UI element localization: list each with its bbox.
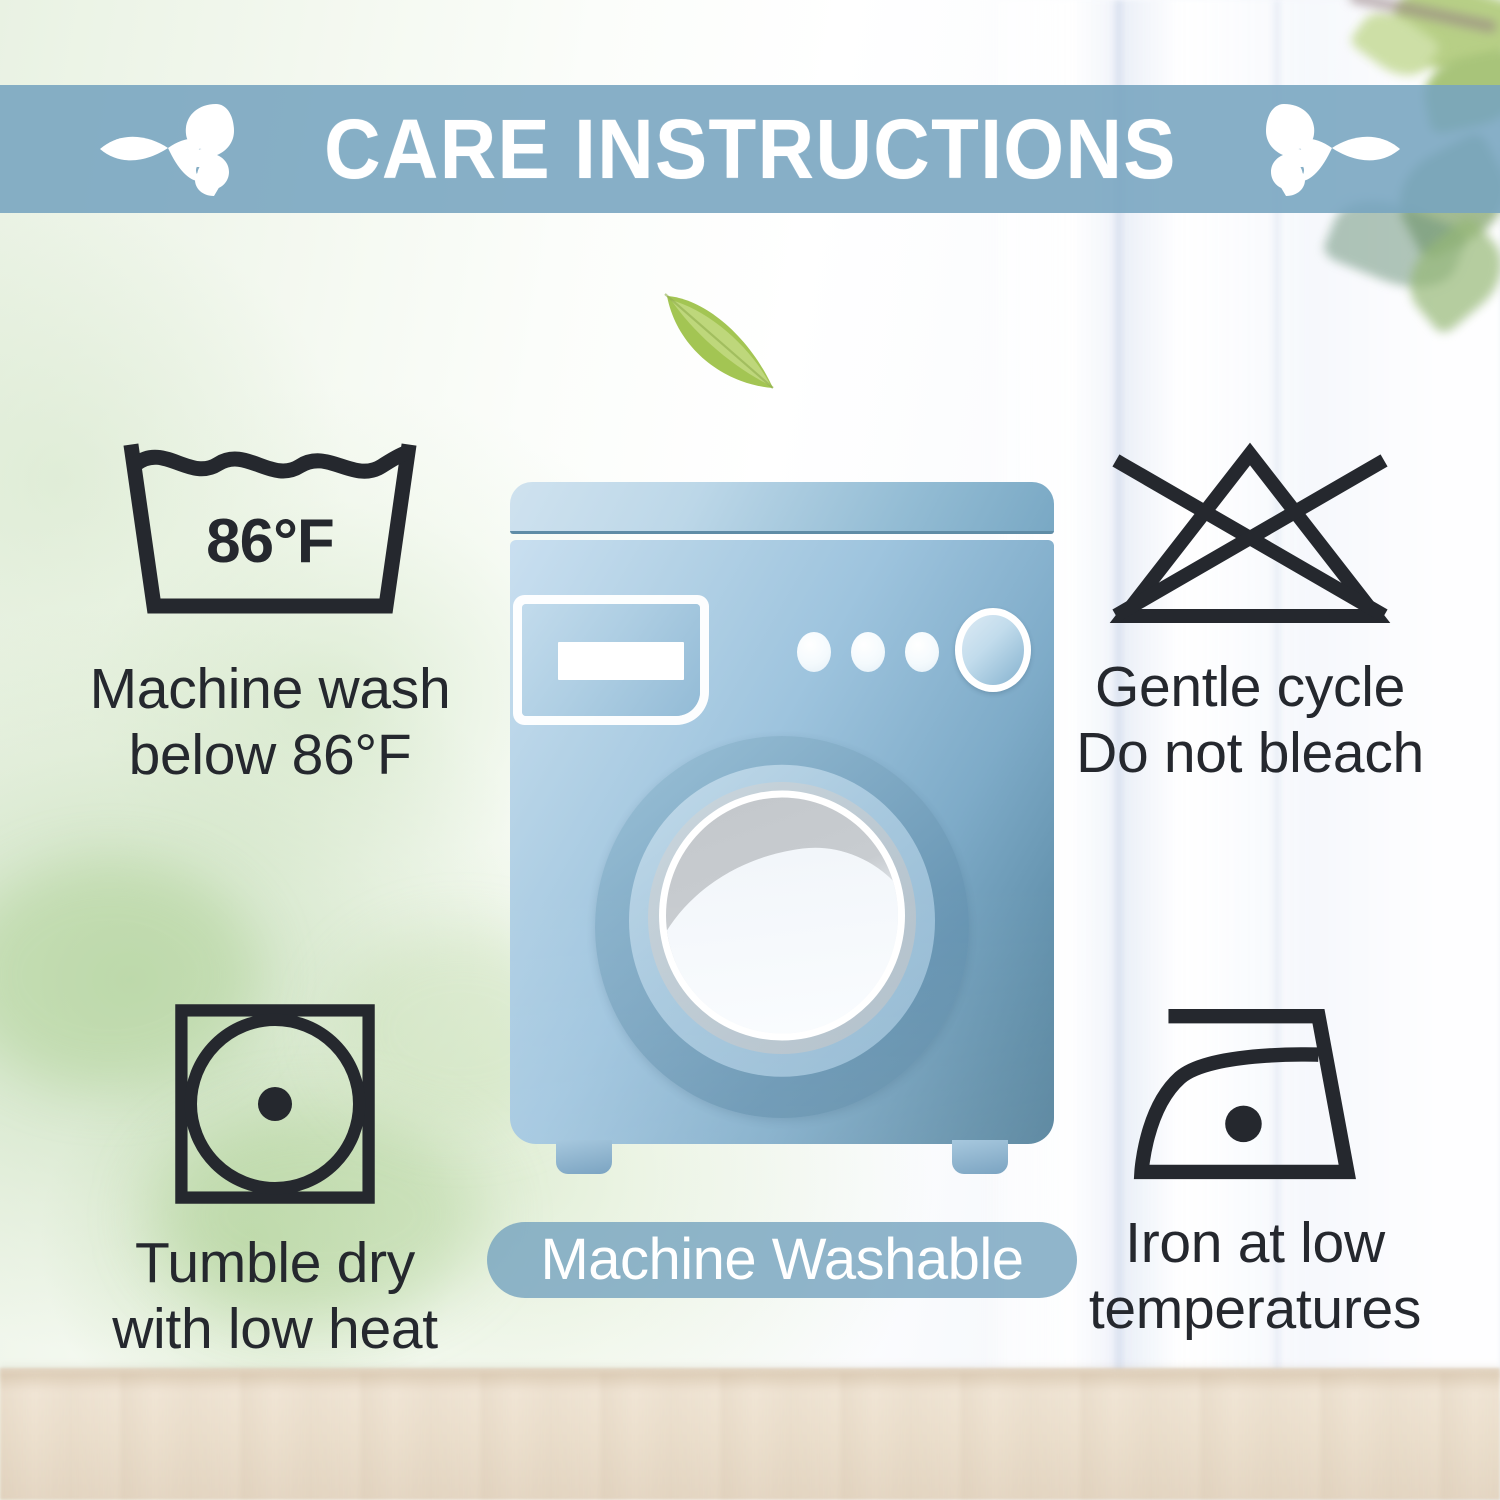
care-symbol-do-not-bleach: Gentle cycle Do not bleach bbox=[1010, 440, 1490, 786]
detergent-drawer-slot bbox=[558, 642, 684, 680]
caption-line-1: Machine wash bbox=[90, 658, 451, 722]
door-glass bbox=[666, 798, 898, 1034]
caption-tumble-dry: Tumble dry with low heat bbox=[112, 1232, 438, 1362]
caption-iron: Iron at low temperatures bbox=[1089, 1212, 1421, 1342]
caption-line-2: Do not bleach bbox=[1076, 722, 1424, 786]
program-dial-knob bbox=[955, 608, 1031, 692]
washing-machine-illustration bbox=[508, 482, 1056, 1160]
indicator-light bbox=[851, 632, 885, 672]
door-ring-middle bbox=[648, 782, 916, 1054]
washer-body bbox=[510, 540, 1054, 1144]
care-symbol-machine-wash: 86°F Machine wash below 86°F bbox=[20, 440, 520, 788]
door-glass-reflection bbox=[666, 835, 898, 1034]
detergent-drawer bbox=[522, 604, 700, 716]
indicator-lights bbox=[797, 632, 939, 672]
tumble-dry-low-icon bbox=[171, 1000, 379, 1208]
page-title: CARE INSTRUCTIONS bbox=[324, 107, 1177, 191]
indicator-light bbox=[905, 632, 939, 672]
wood-grain-texture bbox=[0, 1372, 1500, 1500]
caption-machine-wash: Machine wash below 86°F bbox=[90, 658, 451, 788]
care-instructions-infographic: CARE INSTRUCTIONS bbox=[0, 0, 1500, 1500]
wash-temperature-label: 86°F bbox=[120, 506, 420, 577]
caption-line-1: Tumble dry bbox=[112, 1232, 438, 1296]
care-symbol-tumble-dry: Tumble dry with low heat bbox=[40, 1000, 510, 1362]
fleur-de-lis-icon-left bbox=[96, 94, 246, 204]
caption-line-2: temperatures bbox=[1089, 1278, 1421, 1342]
door-rim bbox=[659, 791, 905, 1041]
iron-low-heat-icon bbox=[1130, 1000, 1380, 1190]
header-banner: CARE INSTRUCTIONS bbox=[0, 85, 1500, 213]
caption-line-1: Iron at low bbox=[1089, 1212, 1421, 1276]
caption-line-2: with low heat bbox=[112, 1298, 438, 1362]
caption-line-2: below 86°F bbox=[90, 724, 451, 788]
wash-tub-icon: 86°F bbox=[120, 440, 420, 630]
no-bleach-triangle-icon bbox=[1100, 440, 1400, 630]
washer-foot-left bbox=[556, 1140, 612, 1174]
washer-top-lid bbox=[510, 482, 1054, 534]
washer-foot-right bbox=[952, 1140, 1008, 1174]
indicator-light bbox=[797, 632, 831, 672]
green-leaf-icon bbox=[661, 288, 781, 394]
machine-washable-badge: Machine Washable bbox=[487, 1222, 1077, 1298]
care-symbol-iron-low: Iron at low temperatures bbox=[1020, 1000, 1490, 1342]
fleur-de-lis-icon-right bbox=[1254, 94, 1404, 204]
badge-label: Machine Washable bbox=[540, 1231, 1023, 1289]
washer-door bbox=[595, 736, 969, 1118]
door-ring-outer bbox=[629, 765, 935, 1077]
caption-do-not-bleach: Gentle cycle Do not bleach bbox=[1076, 656, 1424, 786]
caption-line-1: Gentle cycle bbox=[1076, 656, 1424, 720]
